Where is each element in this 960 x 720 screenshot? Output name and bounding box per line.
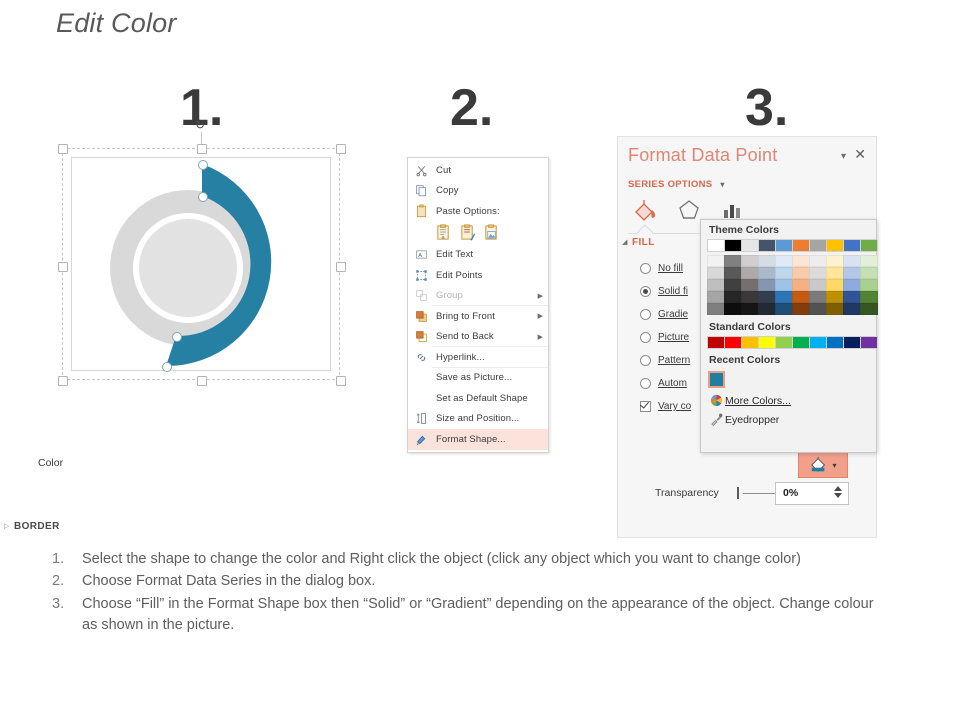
instruction-item: 2. Choose Format Data Series in the dial…	[52, 571, 887, 592]
menu-item-label: Size and Position...	[432, 413, 548, 424]
menu-item-label: Set as Default Shape	[432, 393, 548, 404]
datapoint-handle-2[interactable]	[198, 192, 208, 202]
theme-variant-swatch-3-0[interactable]	[707, 291, 725, 303]
resize-handle-w[interactable]	[58, 262, 68, 272]
submenu-arrow-icon: ▶	[538, 292, 548, 300]
menu-item-format-shape[interactable]: Format Shape...	[408, 429, 548, 450]
theme-variant-swatch-3-7[interactable]	[826, 291, 844, 303]
standard-color-swatch-4[interactable]	[775, 336, 793, 349]
edit-points-icon	[411, 267, 432, 283]
theme-variant-row-4[interactable]	[701, 303, 876, 315]
theme-variant-row-2[interactable]	[701, 279, 876, 291]
edit-text-icon: A	[411, 247, 432, 263]
instruction-text: Choose Format Data Series in the dialog …	[82, 571, 887, 592]
theme-variant-swatch-1-5[interactable]	[792, 267, 810, 279]
theme-variant-swatch-3-1[interactable]	[724, 291, 742, 303]
radio-gradient-fill[interactable]	[640, 309, 651, 320]
theme-variant-swatch-2-5[interactable]	[792, 279, 810, 291]
theme-variant-swatch-4-9[interactable]	[860, 303, 878, 315]
color-wheel-icon	[707, 394, 725, 407]
svg-text:A: A	[418, 253, 422, 259]
transparency-value: 0%	[783, 487, 798, 499]
standard-colors-header: Standard Colors	[701, 315, 876, 336]
series-options-label: SERIES OPTIONS	[628, 179, 712, 190]
slider-track	[743, 493, 775, 494]
blank-icon	[411, 390, 432, 406]
option-no-fill[interactable]: No fill	[640, 257, 691, 280]
close-icon[interactable]: ✕	[854, 147, 866, 161]
theme-colors-variants[interactable]	[701, 255, 876, 315]
theme-color-swatch-1[interactable]	[724, 239, 742, 252]
chevron-down-icon: ▾	[720, 180, 724, 189]
datapoint-handle-4[interactable]	[162, 362, 172, 372]
resize-handle-ne[interactable]	[336, 144, 346, 154]
option-label: Solid fi	[658, 286, 688, 297]
theme-variant-swatch-3-5[interactable]	[792, 291, 810, 303]
option-gradient-fill[interactable]: Gradie	[640, 303, 691, 326]
theme-variant-swatch-3-4[interactable]	[775, 291, 793, 303]
page-title: Edit Color	[56, 8, 177, 39]
color-picker-button[interactable]: ▾	[798, 452, 848, 478]
theme-variant-swatch-0-8[interactable]	[843, 255, 861, 267]
spinner-arrows[interactable]	[834, 486, 842, 498]
color-label: Color	[38, 457, 63, 469]
radio-no-fill[interactable]	[640, 263, 651, 274]
theme-variant-swatch-4-5[interactable]	[792, 303, 810, 315]
theme-variant-swatch-3-3[interactable]	[758, 291, 776, 303]
theme-variant-swatch-2-3[interactable]	[758, 279, 776, 291]
theme-color-swatch-5[interactable]	[792, 239, 810, 252]
standard-color-swatch-2[interactable]	[741, 336, 759, 349]
more-colors-label: More Colors...	[725, 395, 791, 407]
instruction-text: Choose “Fill” in the Format Shape box th…	[82, 594, 887, 637]
resize-handle-s[interactable]	[197, 376, 207, 386]
theme-color-swatch-2[interactable]	[741, 239, 759, 252]
menu-item-send-to-back[interactable]: Send to Back ▶	[408, 327, 548, 348]
panel-title: Format Data Point	[628, 145, 777, 166]
menu-item-cut[interactable]: Cut	[408, 160, 548, 181]
border-section-header[interactable]: BORDER	[14, 521, 60, 532]
standard-color-swatch-8[interactable]	[843, 336, 861, 349]
slide-canvas: Edit Color 1. 2. 3. ↻	[0, 0, 960, 720]
theme-colors-header: Theme Colors	[701, 220, 876, 239]
menu-item-label: Cut	[432, 165, 548, 176]
theme-variant-swatch-4-2[interactable]	[741, 303, 759, 315]
slider-knob[interactable]	[737, 487, 739, 499]
theme-variant-row-0[interactable]	[701, 255, 876, 267]
resize-handle-n[interactable]	[197, 144, 207, 154]
theme-color-swatch-4[interactable]	[775, 239, 793, 252]
instruction-item: 1. Select the shape to change the color …	[52, 549, 887, 570]
theme-variant-swatch-4-3[interactable]	[758, 303, 776, 315]
theme-variant-swatch-2-0[interactable]	[707, 279, 725, 291]
eyedropper-icon	[707, 413, 725, 426]
color-picker-popup[interactable]: Theme Colors Standard Colors Recent Colo…	[700, 219, 877, 453]
option-label: Autom	[658, 378, 687, 389]
context-menu[interactable]: Cut Copy Paste Options: a	[407, 157, 549, 453]
theme-variant-swatch-0-4[interactable]	[775, 255, 793, 267]
theme-variant-swatch-4-6[interactable]	[809, 303, 827, 315]
standard-colors-row[interactable]	[701, 336, 876, 349]
hyperlink-icon	[411, 349, 432, 365]
step-number-2: 2.	[450, 82, 493, 134]
menu-item-label: Send to Back	[432, 331, 538, 342]
menu-item-save-as-picture[interactable]: Save as Picture...	[408, 368, 548, 389]
menu-item-edit-text[interactable]: A Edit Text	[408, 245, 548, 266]
theme-variant-swatch-0-9[interactable]	[860, 255, 878, 267]
instruction-number: 3.	[52, 594, 82, 637]
theme-color-swatch-0[interactable]	[707, 239, 725, 252]
chevron-down-icon[interactable]: ▾	[832, 461, 836, 470]
menu-item-bring-to-front[interactable]: Bring to Front ▶	[408, 306, 548, 327]
theme-variant-swatch-3-2[interactable]	[741, 291, 759, 303]
expand-triangle-icon[interactable]: ▷	[4, 522, 9, 530]
theme-color-swatch-6[interactable]	[809, 239, 827, 252]
collapse-triangle-icon[interactable]: ◢	[622, 238, 627, 246]
bring-front-icon	[411, 308, 432, 324]
datapoint-handle-1[interactable]	[198, 160, 208, 170]
datapoint-handle-3[interactable]	[172, 332, 182, 342]
resize-handle-e[interactable]	[336, 262, 346, 272]
fill-options-list[interactable]: No fill Solid fi Gradie Picture Pattern …	[640, 257, 691, 418]
resize-handle-se[interactable]	[336, 376, 346, 386]
menu-item-label: Copy	[432, 185, 548, 196]
theme-variant-swatch-0-5[interactable]	[792, 255, 810, 267]
paste-options-bar[interactable]: a	[408, 222, 548, 245]
theme-variant-swatch-1-8[interactable]	[843, 267, 861, 279]
theme-variant-swatch-4-1[interactable]	[724, 303, 742, 315]
radio-pattern-fill[interactable]	[640, 355, 651, 366]
standard-color-swatch-0[interactable]	[707, 336, 725, 349]
transparency-label: Transparency	[655, 487, 719, 499]
standard-color-swatch-1[interactable]	[724, 336, 742, 349]
theme-variant-swatch-0-0[interactable]	[707, 255, 725, 267]
menu-item-set-default-shape[interactable]: Set as Default Shape	[408, 388, 548, 409]
active-tab-indicator	[636, 223, 662, 235]
option-vary-colors[interactable]: Vary co	[640, 395, 691, 418]
effects-pentagon-icon[interactable]	[676, 197, 702, 228]
standard-color-swatch-6[interactable]	[809, 336, 827, 349]
transparency-slider[interactable]	[737, 487, 775, 499]
theme-variant-swatch-0-2[interactable]	[741, 255, 759, 267]
radio-picture-fill[interactable]	[640, 332, 651, 343]
theme-variant-swatch-1-0[interactable]	[707, 267, 725, 279]
blank-icon	[411, 370, 432, 386]
menu-item-group: Group ▶	[408, 286, 548, 307]
menu-item-label: Bring to Front	[432, 311, 538, 322]
theme-variant-swatch-2-2[interactable]	[741, 279, 759, 291]
option-label: Gradie	[658, 309, 688, 320]
theme-variant-swatch-3-9[interactable]	[860, 291, 878, 303]
fill-section-header: FILL	[632, 237, 655, 248]
menu-item-edit-points[interactable]: Edit Points	[408, 265, 548, 286]
scissors-icon	[411, 162, 432, 178]
instruction-item: 3. Choose “Fill” in the Format Shape box…	[52, 594, 887, 637]
paste-keep-formatting-icon[interactable]: a	[435, 224, 452, 241]
theme-variant-swatch-2-7[interactable]	[826, 279, 844, 291]
instruction-text: Select the shape to change the color and…	[82, 549, 887, 570]
resize-handle-nw[interactable]	[58, 144, 68, 154]
instructions-list: 1. Select the shape to change the color …	[52, 549, 887, 638]
menu-item-label: Group	[432, 290, 538, 301]
submenu-arrow-icon: ▶	[538, 333, 548, 341]
theme-variant-swatch-3-8[interactable]	[843, 291, 861, 303]
option-solid-fill[interactable]: Solid fi	[640, 280, 691, 303]
spinner-down-icon[interactable]	[834, 493, 842, 498]
instruction-number: 2.	[52, 571, 82, 592]
more-colors-item[interactable]: More Colors...	[701, 391, 876, 410]
theme-variant-swatch-2-1[interactable]	[724, 279, 742, 291]
spinner-up-icon[interactable]	[834, 486, 842, 491]
chevron-down-icon[interactable]: ▾	[841, 151, 846, 162]
eyedropper-label: Eyedropper	[725, 414, 779, 426]
theme-color-swatch-7[interactable]	[826, 239, 844, 252]
option-pattern-fill[interactable]: Pattern	[640, 349, 691, 372]
theme-variant-swatch-1-2[interactable]	[741, 267, 759, 279]
theme-variant-row-1[interactable]	[701, 267, 876, 279]
theme-color-swatch-3[interactable]	[758, 239, 776, 252]
theme-color-swatch-8[interactable]	[843, 239, 861, 252]
group-icon	[411, 288, 432, 304]
theme-variant-swatch-1-7[interactable]	[826, 267, 844, 279]
series-options-dropdown[interactable]: SERIES OPTIONS ▾	[628, 179, 725, 190]
option-automatic[interactable]: Autom	[640, 372, 691, 395]
theme-variant-swatch-1-6[interactable]	[809, 267, 827, 279]
donut-chart-svg	[84, 156, 320, 376]
menu-item-label: Edit Text	[432, 249, 548, 260]
option-label: Picture	[658, 332, 689, 343]
menu-item-size-and-position[interactable]: Size and Position...	[408, 409, 548, 430]
theme-variant-swatch-0-6[interactable]	[809, 255, 827, 267]
menu-item-copy[interactable]: Copy	[408, 181, 548, 202]
donut-chart[interactable]	[84, 156, 320, 376]
send-back-icon	[411, 329, 432, 345]
menu-item-hyperlink[interactable]: Hyperlink...	[408, 347, 548, 368]
menu-item-label: Paste Options:	[432, 206, 548, 217]
theme-variant-swatch-2-9[interactable]	[860, 279, 878, 291]
theme-variant-swatch-4-7[interactable]	[826, 303, 844, 315]
theme-variant-swatch-1-3[interactable]	[758, 267, 776, 279]
step-number-3: 3.	[745, 82, 788, 134]
eyedropper-item[interactable]: Eyedropper	[701, 410, 876, 429]
radio-solid-fill[interactable]	[640, 286, 651, 297]
fill-bucket-icon	[809, 456, 829, 474]
paste-picture-icon[interactable]	[483, 224, 500, 241]
format-shape-icon	[411, 431, 432, 447]
theme-variant-row-3[interactable]	[701, 291, 876, 303]
theme-variant-swatch-1-9[interactable]	[860, 267, 878, 279]
menu-item-label: Hyperlink...	[432, 352, 548, 363]
menu-item-label: Save as Picture...	[432, 372, 548, 383]
submenu-arrow-icon: ▶	[538, 312, 548, 320]
paste-brush-icon[interactable]	[459, 224, 476, 241]
standard-color-swatch-5[interactable]	[792, 336, 810, 349]
option-picture-fill[interactable]: Picture	[640, 326, 691, 349]
rotate-icon[interactable]: ↻	[195, 118, 205, 132]
theme-variant-swatch-1-4[interactable]	[775, 267, 793, 279]
instruction-number: 1.	[52, 549, 82, 570]
menu-item-label: Edit Points	[432, 270, 548, 281]
theme-variant-swatch-0-1[interactable]	[724, 255, 742, 267]
clipboard-icon	[411, 203, 432, 219]
theme-variant-swatch-0-3[interactable]	[758, 255, 776, 267]
theme-variant-swatch-2-4[interactable]	[775, 279, 793, 291]
theme-variant-swatch-0-7[interactable]	[826, 255, 844, 267]
standard-color-swatch-3[interactable]	[758, 336, 776, 349]
resize-handle-sw[interactable]	[58, 376, 68, 386]
theme-variant-swatch-4-4[interactable]	[775, 303, 793, 315]
recent-color-swatch[interactable]	[708, 371, 725, 388]
theme-variant-swatch-2-8[interactable]	[843, 279, 861, 291]
theme-variant-swatch-3-6[interactable]	[809, 291, 827, 303]
copy-icon	[411, 183, 432, 199]
option-label: Vary co	[658, 401, 691, 412]
option-label: No fill	[658, 263, 683, 274]
theme-color-swatch-9[interactable]	[860, 239, 878, 252]
checkbox-vary-colors[interactable]	[640, 401, 651, 412]
theme-variant-swatch-2-6[interactable]	[809, 279, 827, 291]
recent-colors-header: Recent Colors	[701, 349, 876, 369]
option-label: Pattern	[658, 355, 690, 366]
theme-variant-swatch-4-8[interactable]	[843, 303, 861, 315]
size-position-icon	[411, 411, 432, 427]
theme-variant-swatch-1-1[interactable]	[724, 267, 742, 279]
standard-color-swatch-7[interactable]	[826, 336, 844, 349]
menu-item-label: Format Shape...	[432, 434, 548, 445]
transparency-spinner[interactable]: 0%	[775, 482, 849, 505]
menu-item-paste-options[interactable]: Paste Options:	[408, 201, 548, 222]
theme-variant-swatch-4-0[interactable]	[707, 303, 725, 315]
selected-chart-object[interactable]: ↻	[62, 148, 340, 380]
radio-automatic[interactable]	[640, 378, 651, 389]
theme-colors-top-row[interactable]	[701, 239, 876, 252]
standard-color-swatch-9[interactable]	[860, 336, 878, 349]
